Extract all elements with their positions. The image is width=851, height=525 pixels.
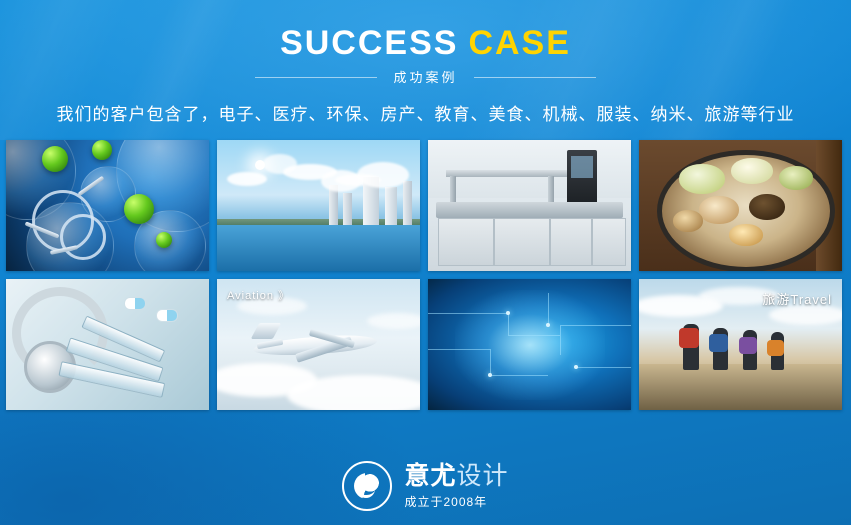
gallery-item-electronics[interactable] [428, 279, 631, 410]
title-secondary: CASE [468, 24, 570, 62]
gallery-item-nano[interactable] [6, 140, 209, 271]
logo-text: 意尤设计 成立于2008年 [404, 464, 508, 508]
subtitle-row: 成功案例 [0, 71, 851, 84]
poster-canvas: SUCCESSCASE 成功案例 我们的客户包含了，电子、医疗、环保、房产、教育… [0, 0, 851, 525]
divider-left [255, 77, 377, 78]
gallery-item-environment[interactable] [217, 140, 420, 271]
title-primary: SUCCESS [280, 24, 458, 62]
swirl-logo-icon [342, 461, 392, 511]
page-title: SUCCESSCASE [0, 26, 851, 60]
gallery-caption-aviation: Aviation 》 [227, 287, 290, 303]
footer-brand: 意尤设计 成立于2008年 [0, 461, 851, 511]
gallery-caption-travel: 旅游Travel [762, 289, 832, 308]
title-subtitle: 成功案例 [393, 71, 457, 84]
gallery-item-medical[interactable] [6, 279, 209, 410]
gallery-item-food[interactable] [639, 140, 842, 271]
gallery-item-travel[interactable]: 旅游Travel [639, 279, 842, 410]
brand-established: 成立于2008年 [404, 496, 508, 508]
gallery-item-laboratory[interactable] [428, 140, 631, 271]
brand-name: 意尤设计 [404, 462, 508, 490]
brand-name-light: 设计 [457, 462, 509, 490]
tagline: 我们的客户包含了，电子、医疗、环保、房产、教育、美食、机械、服装、纳米、旅游等行… [0, 100, 851, 125]
logo[interactable]: 意尤设计 成立于2008年 [342, 461, 508, 511]
gallery-item-aviation[interactable]: Aviation 》 [217, 279, 420, 410]
poster-header: SUCCESSCASE 成功案例 我们的客户包含了，电子、医疗、环保、房产、教育… [0, 0, 851, 125]
brand-name-strong: 意尤 [404, 462, 456, 490]
divider-right [474, 77, 596, 78]
case-gallery-grid: Aviation 》 [6, 140, 846, 410]
